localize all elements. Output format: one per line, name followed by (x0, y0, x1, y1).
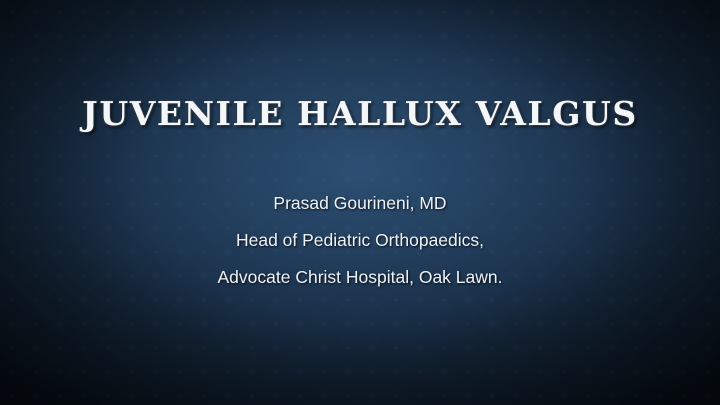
slide-subtitle: Prasad Gourineni, MD Head of Pediatric O… (218, 193, 503, 288)
slide-content: JUVENILE HALLUX VALGUS Prasad Gourineni,… (0, 0, 720, 405)
presentation-slide: JUVENILE HALLUX VALGUS Prasad Gourineni,… (0, 0, 720, 405)
slide-title: JUVENILE HALLUX VALGUS (82, 94, 638, 133)
subtitle-line-role: Head of Pediatric Orthopaedics, (236, 230, 484, 251)
subtitle-line-affiliation: Advocate Christ Hospital, Oak Lawn. (218, 267, 503, 288)
subtitle-line-author: Prasad Gourineni, MD (273, 193, 446, 214)
